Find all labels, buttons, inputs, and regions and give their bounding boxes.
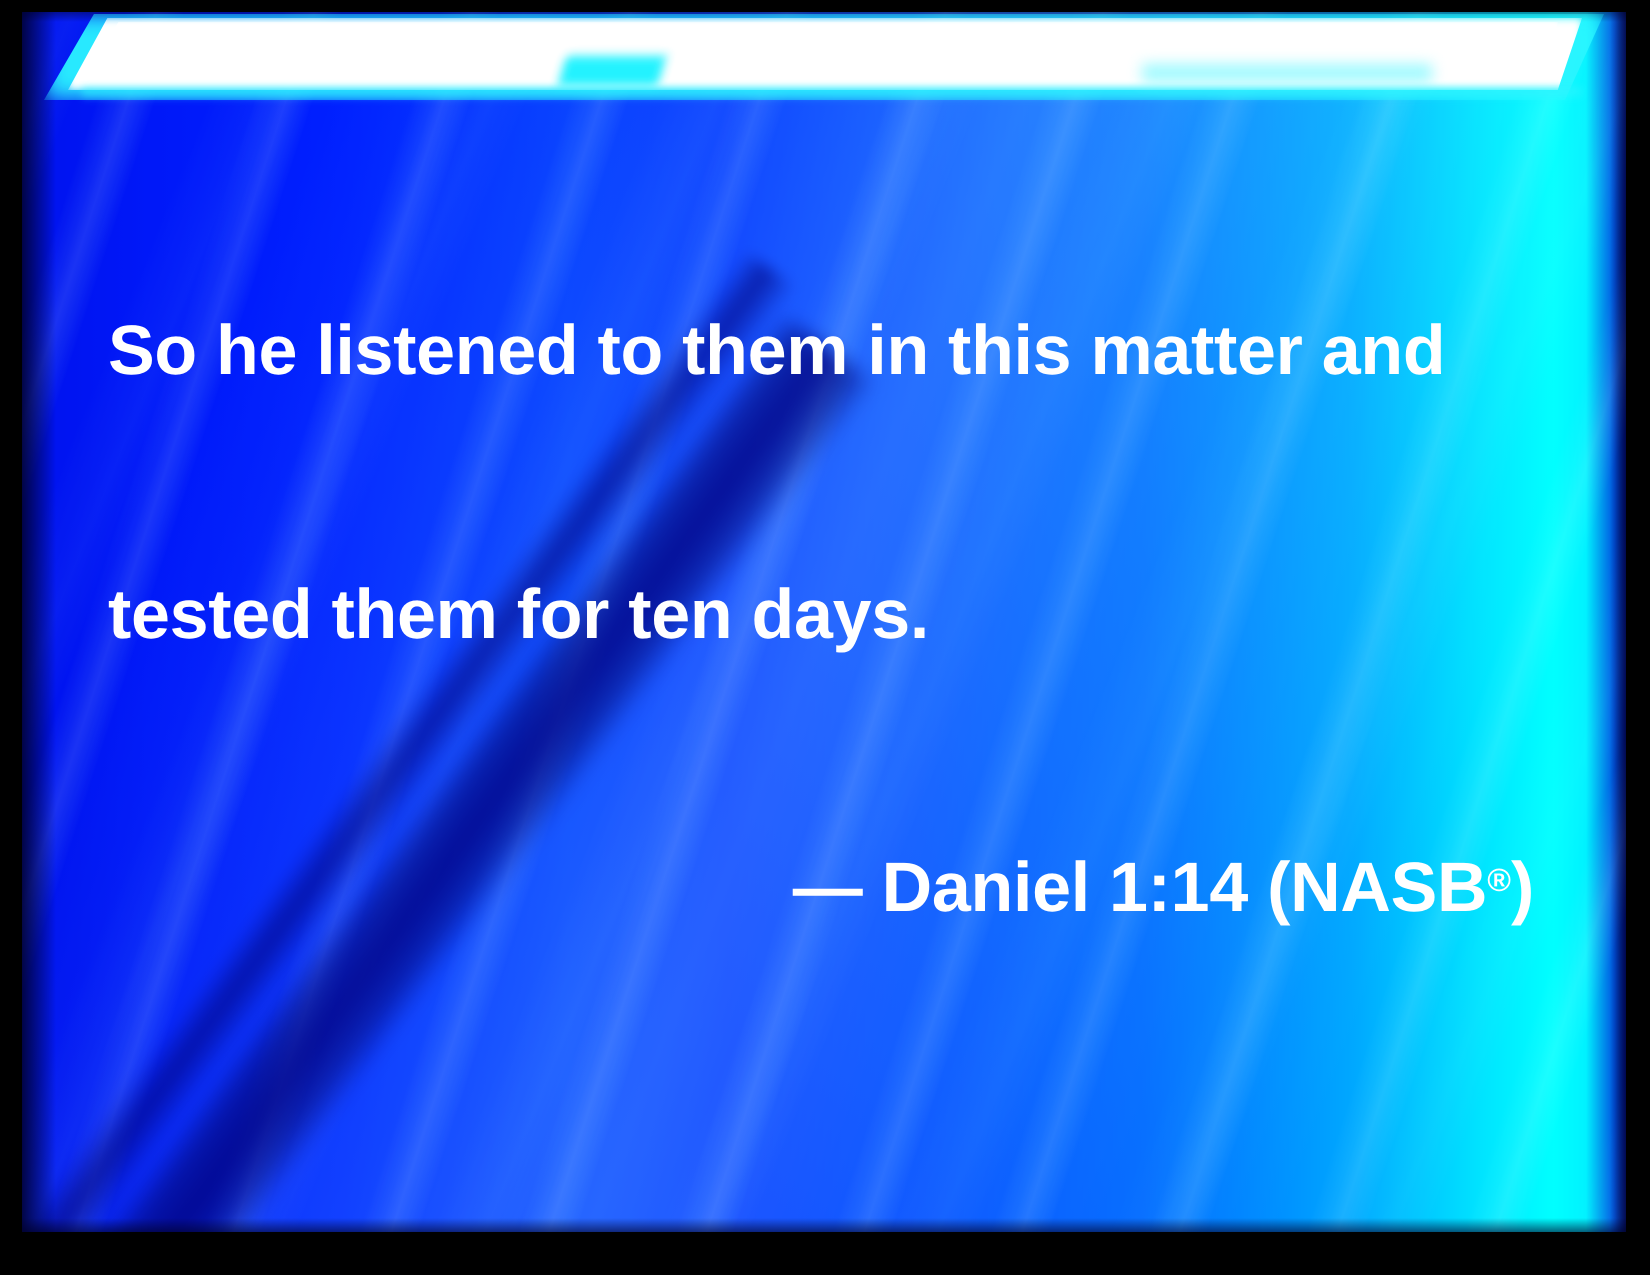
registered-trademark-icon: ®	[1487, 862, 1511, 898]
verse-attribution-prefix: — Daniel 1:14 (NASB	[793, 848, 1487, 926]
verse-line-1: So he listened to them in this matter an…	[108, 306, 1548, 394]
verse-line-2: tested them for ten days.	[108, 570, 1548, 658]
slide-background-panel: So he listened to them in this matter an…	[22, 12, 1626, 1232]
scripture-slide: So he listened to them in this matter an…	[0, 0, 1650, 1275]
verse-attribution-suffix: )	[1511, 848, 1534, 926]
verse-attribution: — Daniel 1:14 (NASB®)	[108, 836, 1548, 931]
verse-text-block: So he listened to them in this matter an…	[108, 130, 1548, 1107]
